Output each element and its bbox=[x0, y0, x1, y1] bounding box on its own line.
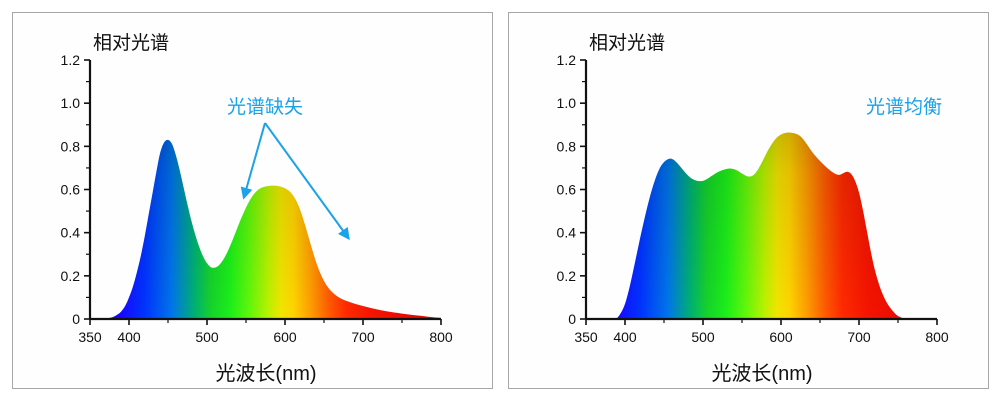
spectrum-chart-left: 1.21.00.80.60.40.20 350400500600700800 相… bbox=[13, 13, 492, 388]
x-tick-label: 700 bbox=[351, 329, 375, 345]
x-tick-label: 800 bbox=[925, 329, 949, 345]
y-tick-label: 0.2 bbox=[61, 268, 81, 284]
curve-group-left bbox=[90, 140, 441, 319]
x-axis-title-left: 光波长(nm) bbox=[215, 362, 316, 385]
y-tick-label: 0.8 bbox=[61, 138, 81, 154]
annotation-label-right: 光谱均衡 bbox=[866, 96, 942, 118]
y-tick-label: 1.2 bbox=[557, 52, 577, 68]
spectrum-deficient-panel: 1.21.00.80.60.40.20 350400500600700800 相… bbox=[12, 12, 493, 389]
plot-area-left: 1.21.00.80.60.40.20 350400500600700800 相… bbox=[13, 13, 492, 388]
plot-title-right: 相对光谱 bbox=[589, 32, 665, 54]
x-tick-label: 400 bbox=[613, 329, 637, 345]
y-tick-label: 0 bbox=[568, 311, 576, 327]
x-tick-label: 800 bbox=[429, 329, 453, 345]
y-tick-label: 0.6 bbox=[557, 182, 577, 198]
plot-title-left: 相对光谱 bbox=[93, 32, 169, 54]
spectrum-balanced-panel: 1.21.00.80.60.40.20 350400500600700800 相… bbox=[508, 12, 989, 389]
x-tick-label: 350 bbox=[574, 329, 598, 345]
annotation-label-left: 光谱缺失 bbox=[227, 96, 303, 118]
y-tick-label: 1.0 bbox=[61, 95, 81, 111]
x-axis-title-right: 光波长(nm) bbox=[711, 362, 812, 385]
x-tick-label: 350 bbox=[78, 329, 102, 345]
y-tick-labels-right: 1.21.00.80.60.40.20 bbox=[557, 52, 577, 327]
x-tick-labels-left: 350400500600700800 bbox=[78, 329, 453, 345]
annotation-arrow-left-1 bbox=[246, 123, 265, 190]
x-tick-label: 500 bbox=[195, 329, 219, 345]
y-tick-label: 0.6 bbox=[61, 182, 81, 198]
x-tick-label: 600 bbox=[273, 329, 297, 345]
y-tick-label: 0.8 bbox=[557, 138, 577, 154]
x-tick-label: 600 bbox=[769, 329, 793, 345]
y-tick-label: 1.2 bbox=[61, 52, 81, 68]
x-tick-labels-right: 350400500600700800 bbox=[574, 329, 949, 345]
y-tick-label: 0.2 bbox=[557, 268, 577, 284]
y-tick-labels-left: 1.21.00.80.60.40.20 bbox=[61, 52, 81, 327]
plot-area-right: 1.21.00.80.60.40.20 350400500600700800 相… bbox=[509, 13, 988, 388]
spectrum-comparison-figure: 1.21.00.80.60.40.20 350400500600700800 相… bbox=[0, 0, 1000, 401]
y-tick-label: 0 bbox=[72, 311, 80, 327]
x-tick-label: 500 bbox=[691, 329, 715, 345]
spectrum-chart-right: 1.21.00.80.60.40.20 350400500600700800 相… bbox=[509, 13, 988, 388]
curve-group-right bbox=[586, 133, 937, 320]
y-tick-label: 0.4 bbox=[61, 225, 81, 241]
x-tick-label: 700 bbox=[847, 329, 871, 345]
y-tick-label: 1.0 bbox=[557, 95, 577, 111]
x-tick-label: 400 bbox=[117, 329, 141, 345]
y-tick-label: 0.4 bbox=[557, 225, 577, 241]
